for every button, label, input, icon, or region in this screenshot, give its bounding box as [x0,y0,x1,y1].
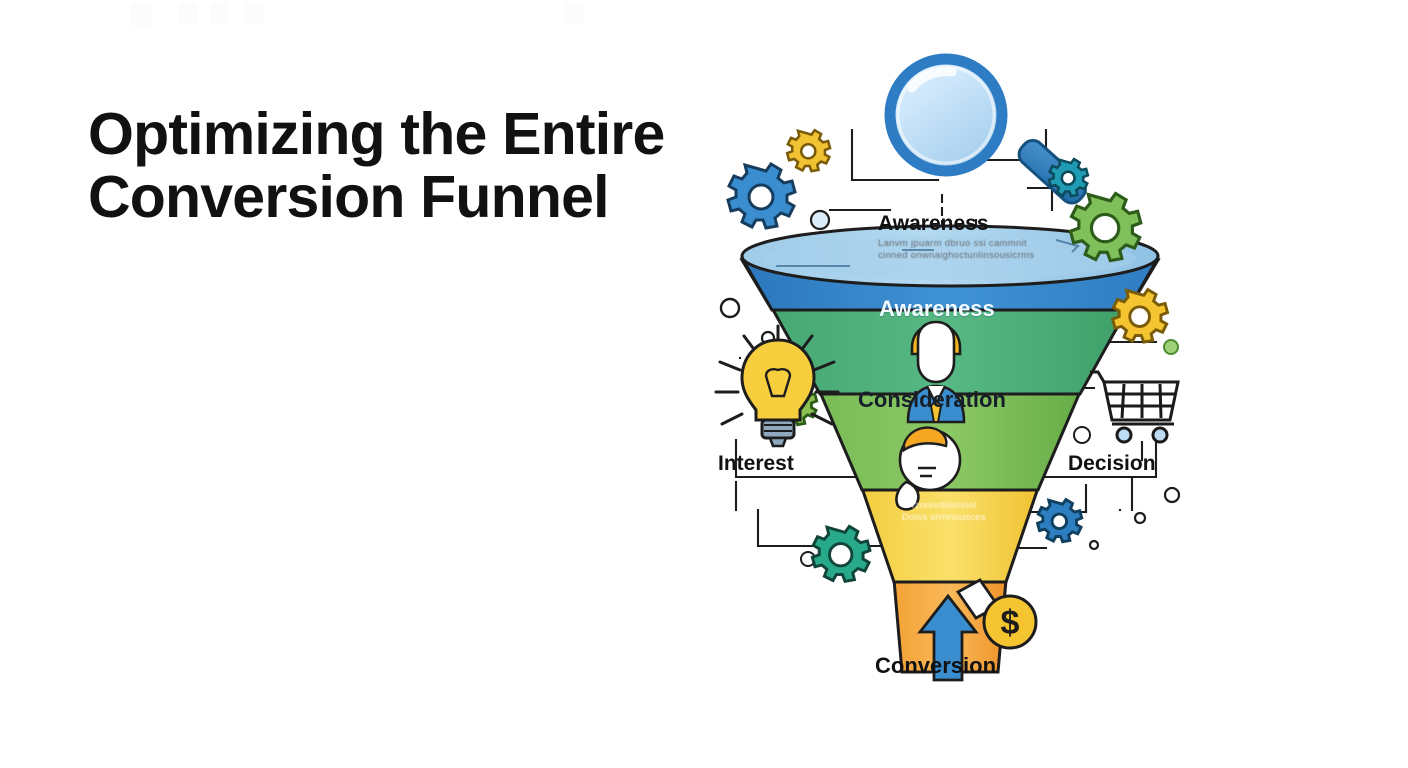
band-label-consideration: Consideration [858,387,1006,413]
callout-subtext-awareness-line-2: cinned onwnaighoctunlinsousicrms [878,250,1034,262]
gear-icon-blue-top [728,164,795,228]
band-subtext-decision-line-2: Doiss orrnnousces [902,512,986,524]
gear-icon-teal-bottom [812,526,870,581]
page-title-line-1: Optimizing the Entire [88,103,708,166]
decorative-artifact [178,2,198,24]
page-title-line-2: Conversion Funnel [88,166,708,229]
callout-subtext-awareness: Lanvm jpuarm dbruo ssi cammnit cinned on… [878,238,1034,262]
funnel-infographic: $ Awareness Lanvm jpuarm dbruo ssi cammn… [680,40,1220,740]
decorative-artifact [210,2,228,24]
callout-label-decision: Decision [1068,452,1156,476]
band-label-awareness: Awareness [879,296,995,322]
callout-label-awareness: Awareness [878,212,989,236]
callout-label-interest: Interest [718,452,794,476]
gear-icon-blue-bottom [1038,500,1082,542]
slide-canvas: Optimizing the Entire Conversion Funnel [0,0,1408,768]
callout-subtext-awareness-line-1: Lanvm jpuarm dbruo ssi cammnit [878,238,1034,250]
band-subtext-decision: Iznnnntlionsiol Doiss orrnnousces [902,500,986,525]
decorative-artifact [563,2,583,24]
decorative-artifact [243,2,265,24]
decorative-artifact [130,2,152,26]
svg-text:$: $ [1001,604,1020,642]
band-subtext-decision-line-1: Iznnnntlionsiol [902,500,986,512]
shopping-cart-icon [1090,372,1178,442]
page-title: Optimizing the Entire Conversion Funnel [88,103,708,229]
gear-icon-yellow-top [787,130,830,171]
decorative-circles [1090,488,1179,549]
callout-label-conversion: Conversion [875,653,996,679]
